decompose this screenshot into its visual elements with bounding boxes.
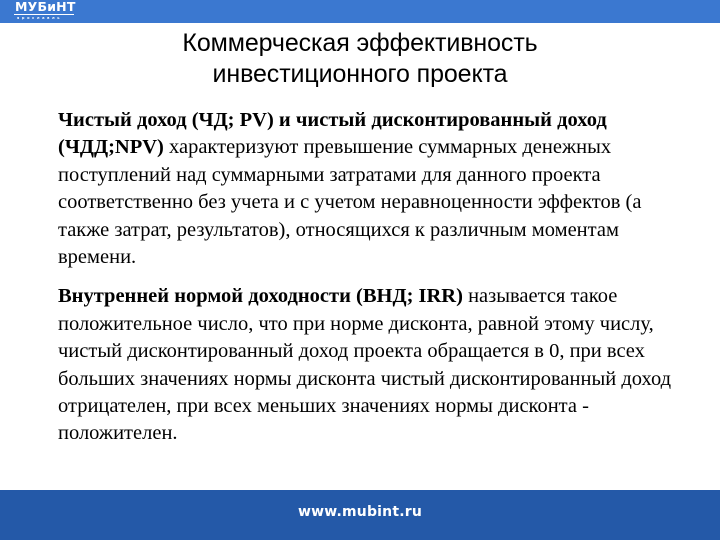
paragraph-2-text: называется такое положительное число, чт… <box>58 285 671 444</box>
footer-url: www.mubint.ru <box>0 504 720 520</box>
page-title: Коммерческая эффективность инвестиционно… <box>60 28 660 90</box>
page-title-line-2: инвестиционного проекта <box>60 59 660 90</box>
paragraph-net-income: Чистый доход (ЧД; PV) и чистый дисконтир… <box>58 107 688 271</box>
body-content: Чистый доход (ЧД; PV) и чистый дисконтир… <box>58 107 688 448</box>
paragraph-2-bold-lead: Внутренней нормой доходности (ВНД; IRR) <box>58 285 463 307</box>
logo-sub-text: ярославль <box>14 16 76 21</box>
logo-underline <box>14 14 74 15</box>
mubint-logo: МУБиНТ ярославль <box>14 1 76 22</box>
footer-bar: www.mubint.ru <box>0 490 720 540</box>
slide: МУБиНТ ярославль Коммерческая эффективно… <box>0 0 720 540</box>
page-title-line-1: Коммерческая эффективность <box>60 28 660 59</box>
logo-main-text: МУБиНТ <box>14 1 76 13</box>
paragraph-irr: Внутренней нормой доходности (ВНД; IRR) … <box>58 283 688 447</box>
header-bar: МУБиНТ ярославль <box>0 0 720 23</box>
